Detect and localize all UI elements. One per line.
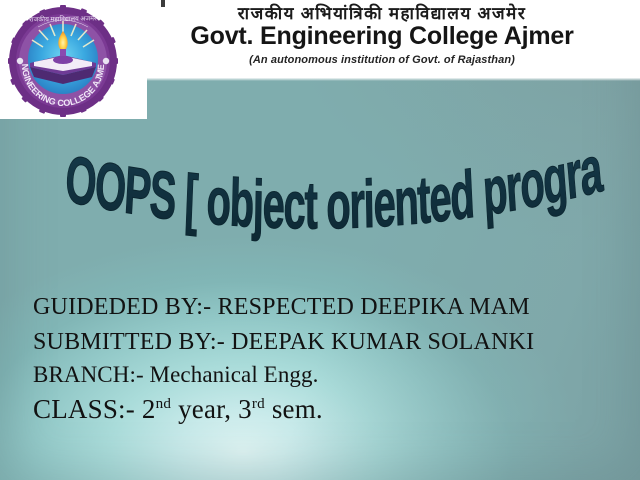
class-year-ordinal: nd xyxy=(156,396,172,412)
institution-name: Govt. Engineering College Ajmer xyxy=(147,22,617,51)
slide-body: GUIDEDED BY:- RESPECTED DEEPIKA MAM SUBM… xyxy=(33,288,623,428)
body-line-submitted-by: SUBMITTED BY:- DEEPAK KUMAR SOLANKI xyxy=(33,326,623,359)
emblem-hindi-text: राजकीय महाविद्यालय अजमेर xyxy=(29,14,97,23)
slide-title-wordart: OOPS [ object oriented programming] xyxy=(60,140,608,238)
institution-hindi-name: राजकीय अभियांत्रिकी महाविद्यालय अजमेर xyxy=(147,1,617,24)
body-line-guided-by: GUIDEDED BY:- RESPECTED DEEPIKA MAM xyxy=(33,288,623,326)
presentation-slide: राजकीय महाविद्यालय अजमेर ENGINEERING COL… xyxy=(0,0,640,480)
header-seam xyxy=(147,78,640,81)
class-year-number: 2 xyxy=(142,394,156,424)
body-line-class: CLASS:- 2nd year, 3rd sem. xyxy=(33,390,623,428)
institution-tagline: (An autonomous institution of Govt. of R… xyxy=(147,54,617,66)
class-sem-word: sem. xyxy=(272,394,323,424)
class-sem-number: 3 xyxy=(238,394,252,424)
college-emblem-logo: राजकीय महाविद्यालय अजमेर ENGINEERING COL… xyxy=(8,5,118,117)
class-year-word: year, xyxy=(178,394,231,424)
body-line-branch: BRANCH:- Mechanical Engg. xyxy=(33,359,623,390)
class-sem-ordinal: rd xyxy=(252,396,265,412)
class-label: CLASS:- xyxy=(33,394,135,424)
